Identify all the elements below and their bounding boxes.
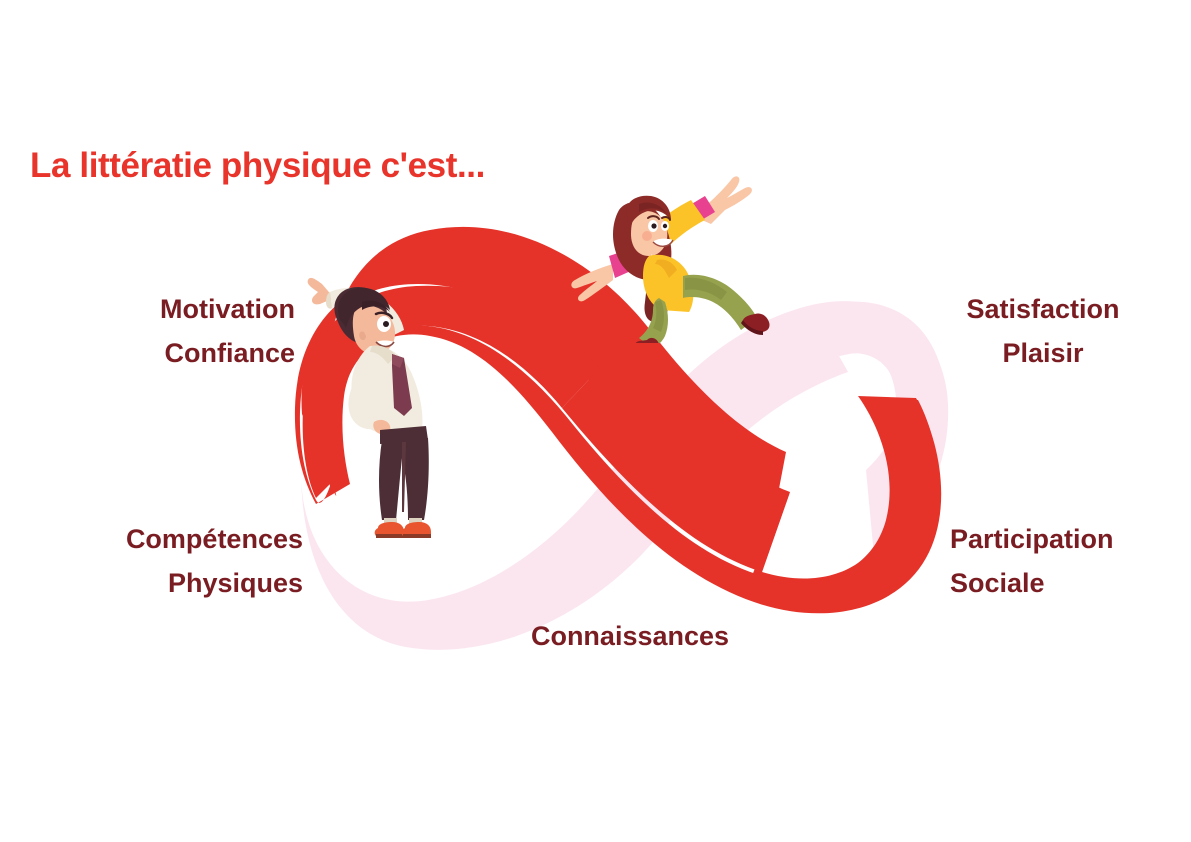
label-line-competences: Compétences (0, 518, 303, 562)
label-line-plaisir: Plaisir (928, 332, 1158, 376)
label-line-connaissances: Connaissances (440, 615, 820, 659)
man-stretching-illustration (300, 262, 505, 542)
label-line-satisfaction: Satisfaction (928, 288, 1158, 332)
woman-balancing-illustration (565, 168, 800, 343)
label-line-motivation: Motivation (0, 288, 295, 332)
label-line-confiance: Confiance (0, 332, 295, 376)
label-line-participation: Participation (950, 518, 1191, 562)
infinity-ribbon-diagram (0, 0, 1191, 842)
label-participation-sociale: Participation Sociale (950, 518, 1191, 605)
label-motivation-confiance: Motivation Confiance (0, 288, 295, 375)
label-line-sociale: Sociale (950, 562, 1191, 606)
infographic-canvas: La littératie physique c'est... (0, 0, 1191, 842)
label-connaissances: Connaissances (440, 615, 820, 659)
page-title: La littératie physique c'est... (30, 146, 485, 186)
label-line-physiques: Physiques (0, 562, 303, 606)
label-competences-physiques: Compétences Physiques (0, 518, 303, 605)
label-satisfaction-plaisir: Satisfaction Plaisir (928, 288, 1158, 375)
